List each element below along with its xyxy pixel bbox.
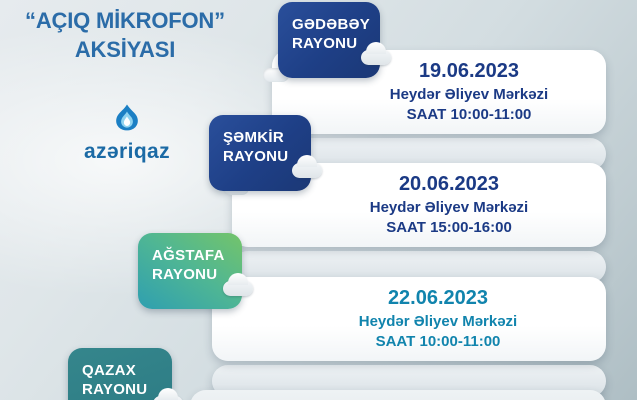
district-name-line1-2: ŞƏMKİR [223,128,311,147]
event-date-3: 22.06.2023 [270,286,606,311]
event-venue-2: Heydər Əliyev Mərkəzi [292,197,606,219]
title-line-2: AKSİYASI [0,35,250,64]
event-time-2: SAAT 15:00-16:00 [292,218,606,238]
district-name-line1-4: QAZAX [82,361,172,380]
event-card-3: 22.06.2023 Heydər Əliyev Mərkəzi SAAT 10… [212,277,606,361]
flame-icon [52,104,202,139]
event-venue-1: Heydər Əliyev Mərkəzi [332,84,606,106]
event-date-2: 20.06.2023 [292,172,606,197]
poster-canvas: “AÇIQ MİKROFON” AKSİYASI azəriqaz 19.06.… [0,0,637,400]
event-time-3: SAAT 10:00-11:00 [270,332,606,352]
brand-logo: azəriqaz [52,104,202,162]
brand-name: azəriqaz [52,141,202,162]
tab-connector-icon-4 [153,396,183,400]
district-name-line1-1: GƏDƏBƏY [292,15,380,34]
district-tab-shamkir[interactable]: ŞƏMKİR RAYONU [209,115,311,191]
event-card-4 [190,390,606,400]
page-title: “AÇIQ MİKROFON” AKSİYASI [0,6,250,64]
event-time-1: SAAT 10:00-11:00 [332,105,606,125]
event-venue-3: Heydər Əliyev Mərkəzi [270,311,606,333]
district-tab-gadabay[interactable]: GƏDƏBƏY RAYONU [278,2,380,78]
district-tab-agstafa[interactable]: AĞSTAFA RAYONU [138,233,242,309]
tab-connector-icon-3 [223,281,253,296]
district-tab-qazax[interactable]: QAZAX RAYONU [68,348,172,400]
title-line-1: “AÇIQ MİKROFON” [25,8,225,33]
district-name-line1-3: AĞSTAFA [152,246,242,265]
tab-connector-icon-2 [292,163,322,178]
tab-connector-icon-1 [361,50,391,65]
